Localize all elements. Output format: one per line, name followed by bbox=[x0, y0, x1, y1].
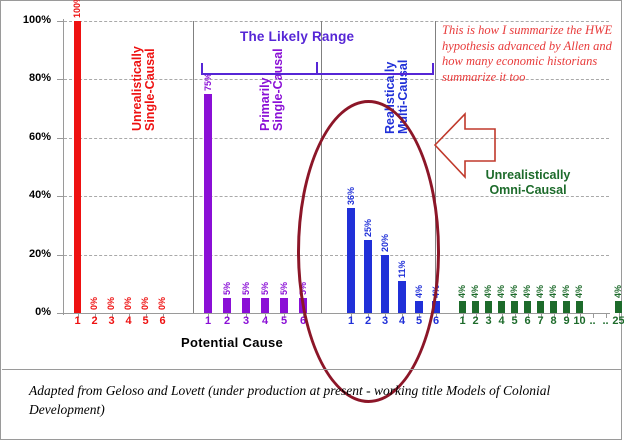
x-tick-label: .. bbox=[599, 315, 613, 327]
bar-value-label: 0% bbox=[106, 297, 116, 310]
bracket-right-end bbox=[432, 63, 434, 75]
group-separator-1 bbox=[193, 21, 194, 313]
bar bbox=[472, 301, 479, 313]
x-tick-label: 5 bbox=[508, 315, 522, 327]
likely-range-label: The Likely Range bbox=[240, 29, 354, 44]
x-tick-label: 3 bbox=[239, 315, 253, 327]
bar bbox=[537, 301, 544, 313]
x-tick-label: 7 bbox=[534, 315, 548, 327]
bar-value-label: 5% bbox=[241, 282, 251, 295]
x-tick-label: 2 bbox=[469, 315, 483, 327]
caption-divider bbox=[2, 369, 622, 370]
y-tick-100% bbox=[57, 21, 64, 22]
bar-value-label: 4% bbox=[561, 285, 571, 298]
bar-value-label: 75% bbox=[203, 73, 213, 91]
bar-value-label: 4% bbox=[496, 285, 506, 298]
bar-value-label: 4% bbox=[470, 285, 480, 298]
x-tick-label: 4 bbox=[122, 315, 136, 327]
bar-value-label: 4% bbox=[574, 285, 584, 298]
group-label-line: Single-Causal bbox=[144, 46, 157, 131]
x-tick-label: 1 bbox=[456, 315, 470, 327]
x-tick-label: 10 bbox=[573, 315, 587, 327]
highlight-ellipse bbox=[297, 100, 440, 403]
x-tick-label: 25 bbox=[612, 315, 624, 327]
bar bbox=[550, 301, 557, 313]
x-tick-label: 5 bbox=[139, 315, 153, 327]
figure-caption: Adapted from Geloso and Lovett (under pr… bbox=[29, 381, 599, 419]
bar bbox=[74, 21, 81, 313]
x-tick-label: 6 bbox=[156, 315, 170, 327]
bar bbox=[280, 298, 288, 313]
bar bbox=[563, 301, 570, 313]
x-tick-label: 5 bbox=[277, 315, 291, 327]
x-axis-title: Potential Cause bbox=[181, 335, 283, 350]
bar-value-label: 4% bbox=[522, 285, 532, 298]
y-tick-80% bbox=[57, 79, 64, 80]
bar-value-label: 0% bbox=[123, 297, 133, 310]
bar-value-label: 5% bbox=[260, 282, 270, 295]
bar bbox=[498, 301, 505, 313]
bar bbox=[524, 301, 531, 313]
group-label: UnrealisticallySingle-Causal bbox=[131, 46, 157, 131]
y-tick-label: 40% bbox=[11, 189, 51, 201]
x-tick-label: .. bbox=[586, 315, 600, 327]
y-tick-label: 60% bbox=[11, 131, 51, 143]
x-tick-label: 2 bbox=[88, 315, 102, 327]
bar bbox=[485, 301, 492, 313]
bracket-stem bbox=[316, 62, 318, 74]
y-tick-20% bbox=[57, 255, 64, 256]
x-tick-label: 9 bbox=[560, 315, 574, 327]
gridline bbox=[64, 21, 609, 22]
group-label-line: Omni-Causal bbox=[463, 183, 593, 198]
bracket-left-end bbox=[201, 63, 203, 75]
bar-value-label: 4% bbox=[509, 285, 519, 298]
likely-range-bracket bbox=[201, 61, 434, 75]
bar-value-label: 0% bbox=[157, 297, 167, 310]
callout-text: This is how I summarize the HWE hypothes… bbox=[442, 23, 622, 85]
y-tick-0% bbox=[57, 313, 64, 314]
y-tick-60% bbox=[57, 138, 64, 139]
bar-value-label: 100% bbox=[72, 0, 82, 18]
x-tick-label: 8 bbox=[547, 315, 561, 327]
bar-value-label: 4% bbox=[483, 285, 493, 298]
x-tick-label: 4 bbox=[258, 315, 272, 327]
bar-value-label: 4% bbox=[457, 285, 467, 298]
bar bbox=[576, 301, 583, 313]
bar bbox=[204, 94, 212, 313]
y-tick-40% bbox=[57, 196, 64, 197]
bar-value-label: 4% bbox=[613, 285, 623, 298]
bar-value-label: 5% bbox=[279, 282, 289, 295]
bar-value-label: 0% bbox=[89, 297, 99, 310]
bar bbox=[261, 298, 269, 313]
bar bbox=[242, 298, 250, 313]
x-tick-label: 3 bbox=[482, 315, 496, 327]
y-tick-label: 80% bbox=[11, 72, 51, 84]
bar bbox=[459, 301, 466, 313]
bar bbox=[615, 301, 622, 313]
x-tick-label: 3 bbox=[105, 315, 119, 327]
chart-figure: Cause's Imporatance (% of outcome explai… bbox=[0, 0, 622, 440]
x-tick-label: 2 bbox=[220, 315, 234, 327]
x-tick-label: 1 bbox=[71, 315, 85, 327]
callout-arrow-icon bbox=[433, 108, 503, 183]
bar-value-label: 5% bbox=[222, 282, 232, 295]
x-tick-label: 4 bbox=[495, 315, 509, 327]
y-tick-label: 20% bbox=[11, 248, 51, 260]
bar-value-label: 4% bbox=[548, 285, 558, 298]
y-tick-label: 100% bbox=[11, 14, 51, 26]
bar bbox=[511, 301, 518, 313]
x-tick-label: 6 bbox=[521, 315, 535, 327]
bar bbox=[223, 298, 231, 313]
bar-value-label: 4% bbox=[535, 285, 545, 298]
x-tick-label: 1 bbox=[201, 315, 215, 327]
y-tick-label: 0% bbox=[11, 306, 51, 318]
bar-value-label: 0% bbox=[140, 297, 150, 310]
